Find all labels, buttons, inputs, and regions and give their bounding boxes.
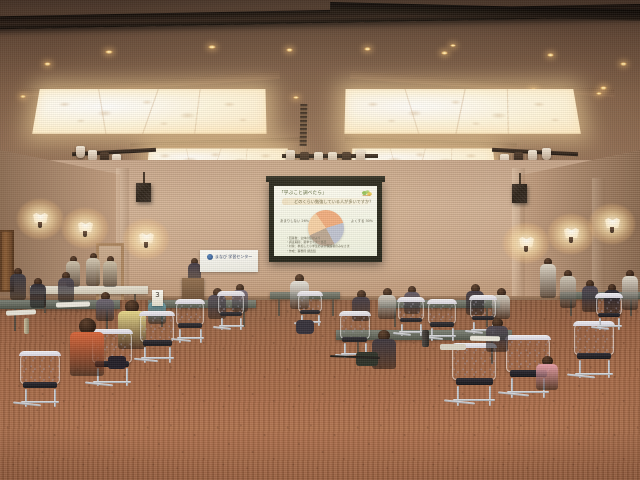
sconce-right-2-base bbox=[569, 237, 573, 243]
staff-rear-left-2 bbox=[86, 253, 100, 288]
sconce-right-1 bbox=[519, 237, 534, 253]
track-spotlight-13 bbox=[542, 148, 551, 160]
downlight-12 bbox=[450, 44, 456, 47]
chair-mid-left-1-seat bbox=[178, 323, 202, 328]
downlight-26 bbox=[596, 92, 602, 95]
pa-speaker-left bbox=[136, 183, 151, 202]
chair-fore-left-1-rim bbox=[19, 351, 61, 356]
downlight-6 bbox=[286, 48, 293, 52]
sconce-left-3-base bbox=[144, 242, 148, 248]
pa-speaker-left-grill bbox=[137, 184, 150, 201]
staff-rear-left-2-torso bbox=[86, 258, 100, 286]
track-spotlight-0 bbox=[76, 146, 85, 158]
attendee-center-3-torso bbox=[378, 295, 396, 319]
sconce-right-2 bbox=[564, 228, 579, 244]
slide-logo-icon bbox=[360, 189, 373, 198]
thermos-right bbox=[422, 330, 429, 347]
paper-sheets-right bbox=[470, 336, 500, 342]
chair-fore-right-3-leg-right bbox=[608, 360, 610, 378]
observer-standing-2 bbox=[560, 270, 576, 310]
attendee-left-rear-3-torso bbox=[58, 278, 74, 302]
bag-floor-left bbox=[108, 356, 126, 369]
attendee-left-rear-3 bbox=[58, 272, 74, 304]
chair-mid-left-1-rim bbox=[175, 299, 205, 304]
downlight-10 bbox=[441, 51, 448, 55]
chair-center-1-rim bbox=[297, 291, 323, 296]
chair-right-mid-2-rim bbox=[469, 295, 497, 300]
downlight-25 bbox=[20, 95, 26, 98]
chair-fore-right-3-seat bbox=[577, 353, 611, 359]
downlight-0 bbox=[44, 62, 51, 66]
sconce-right-3 bbox=[605, 218, 620, 234]
sconce-right-1-base bbox=[524, 246, 528, 252]
chair-fore-left-2-leg-right bbox=[126, 368, 128, 386]
chair-mid-left-2[interactable] bbox=[218, 292, 244, 328]
table-number-card: 3 bbox=[152, 290, 163, 306]
chair-fore-right-1-seat bbox=[456, 378, 493, 385]
chair-mid-left-2-rim bbox=[217, 291, 245, 296]
slide-subtitle: どのくらい勉強している人が多いですか？ bbox=[294, 199, 373, 205]
slide-notes: ・回答数：全体の集計より ・調査期間：夏季セミナー当日 ・対象：参加した小学生お… bbox=[286, 236, 350, 253]
observer-standing-1 bbox=[540, 258, 556, 300]
downlight-3 bbox=[208, 45, 216, 49]
chair-back-right-seat bbox=[598, 313, 620, 317]
downlight-7 bbox=[293, 96, 299, 99]
slide-subtitle-band: どのくらい勉強している人が多いですか？ bbox=[282, 198, 370, 205]
observer-standing-2-torso bbox=[560, 276, 576, 308]
presentation-slide: 「学ぶこと調べたら」 どのくらい勉強している人が多いですか？ あまりしない 26… bbox=[274, 186, 377, 256]
chair-center-2-seat bbox=[342, 337, 367, 342]
chair-mid-left-2-leg-right bbox=[240, 318, 242, 330]
chair-fore-left-1-seat bbox=[23, 382, 57, 388]
attendee-fore-right bbox=[536, 356, 558, 392]
chair-mid-left-1-leg-right bbox=[200, 329, 202, 343]
sconce-left-2-base bbox=[83, 231, 87, 237]
chair-mid-left-2-seat bbox=[220, 312, 242, 316]
chair-right-mid-1-rim bbox=[427, 299, 457, 304]
pie-label-right: よくする 30% bbox=[351, 219, 373, 224]
ceiling-vent bbox=[300, 104, 308, 146]
chair-center-2-backrest bbox=[340, 312, 370, 339]
observer-standing-1-torso bbox=[540, 264, 556, 298]
chair-right-mid-1[interactable] bbox=[428, 300, 456, 338]
downlight-1 bbox=[105, 50, 113, 54]
attendee-left-rear-1-torso bbox=[10, 274, 26, 300]
chair-fore-left-3-leg-right bbox=[169, 347, 171, 363]
chair-fore-left-1-leg-right bbox=[54, 389, 56, 407]
chair-fore-left-3[interactable] bbox=[140, 312, 174, 360]
downlight-15 bbox=[600, 86, 607, 90]
chair-fore-left-1[interactable] bbox=[20, 352, 60, 404]
backpack-floor bbox=[296, 320, 314, 334]
attendee-fore-right-torso bbox=[536, 364, 558, 390]
upper-right-panel bbox=[344, 89, 580, 134]
chair-center-2[interactable] bbox=[340, 312, 370, 356]
conference-room-photo: 「学ぶこと調べたら」 どのくらい勉強している人が多いですか？ あまりしない 26… bbox=[0, 0, 640, 480]
pie-label-left: あまりしない 26% bbox=[280, 219, 309, 224]
staff-rear-left-3-torso bbox=[103, 261, 117, 287]
chair-fore-right-3[interactable] bbox=[574, 322, 614, 376]
slide-note-2: ・対象：参加した小学生および保護者のみなさま bbox=[286, 244, 350, 248]
attendee-center-3 bbox=[378, 288, 396, 321]
event-banner: まなび 学習センター bbox=[200, 250, 258, 272]
downlight-16 bbox=[620, 62, 627, 66]
slide-title: 「学ぶこと調べたら」 bbox=[279, 190, 327, 196]
banner-text: まなび 学習センター bbox=[215, 254, 252, 260]
upper-right-panel-stem-pattern bbox=[344, 89, 580, 134]
ceiling bbox=[0, 0, 640, 172]
sconce-left-2 bbox=[78, 222, 93, 238]
sconce-left-1-base bbox=[38, 222, 42, 228]
child-orange-shirt-torso bbox=[70, 332, 104, 376]
observer-standing-3-torso bbox=[622, 276, 638, 310]
chair-center-3-seat bbox=[400, 318, 422, 322]
staff-rear-left-3 bbox=[103, 256, 117, 289]
projection-screen[interactable]: 「学ぶこと調べたら」 どのくらい勉強している人が多いですか？ あまりしない 26… bbox=[269, 180, 382, 262]
sconce-right-3-base bbox=[610, 227, 614, 233]
child-orange-shirt bbox=[70, 318, 104, 378]
chair-center-3[interactable] bbox=[398, 298, 424, 334]
chair-back-right[interactable] bbox=[596, 294, 622, 328]
water-bottle-left bbox=[24, 318, 29, 334]
banner-logo-icon bbox=[207, 254, 213, 260]
downlight-8 bbox=[364, 47, 371, 51]
chair-fore-left-1-backrest bbox=[20, 352, 60, 384]
table-center-leg-1 bbox=[332, 299, 334, 316]
chair-fore-right-1-leg-right bbox=[489, 386, 491, 406]
attendee-left-rear-1 bbox=[10, 268, 26, 302]
chair-back-right-rim bbox=[595, 293, 623, 298]
chair-back-right-leg-right bbox=[618, 318, 620, 330]
observer-standing-3 bbox=[622, 270, 638, 312]
attendee-left-rear-2-torso bbox=[30, 284, 46, 308]
chair-fore-left-3-seat bbox=[143, 340, 172, 346]
slide-note-3: ・作成：事務局 調査班 bbox=[286, 249, 350, 253]
chair-mid-left-1[interactable] bbox=[176, 300, 204, 340]
pa-speaker-right bbox=[512, 184, 527, 203]
tray-right bbox=[440, 344, 466, 350]
downlight-14 bbox=[547, 53, 554, 57]
chair-right-mid-1-seat bbox=[430, 322, 454, 327]
chair-center-2-rim bbox=[339, 311, 371, 316]
speaker-podium bbox=[182, 278, 204, 300]
chair-center-1-seat bbox=[300, 310, 320, 314]
chair-fore-left-3-backrest bbox=[140, 312, 174, 342]
chair-fore-left-3-rim bbox=[139, 311, 175, 316]
pa-speaker-right-grill bbox=[513, 185, 526, 202]
chair-center-3-rim bbox=[397, 297, 425, 302]
table-center-leg-0 bbox=[278, 299, 280, 316]
upper-left-panel bbox=[32, 89, 266, 134]
sconce-left-1 bbox=[33, 213, 48, 229]
upper-left-panel-stem-pattern bbox=[32, 89, 266, 134]
bag-under-table bbox=[356, 352, 378, 366]
sconce-left-3 bbox=[139, 233, 154, 249]
attendee-left-rear-2 bbox=[30, 278, 46, 310]
chair-fore-right-2-rim bbox=[505, 335, 551, 340]
